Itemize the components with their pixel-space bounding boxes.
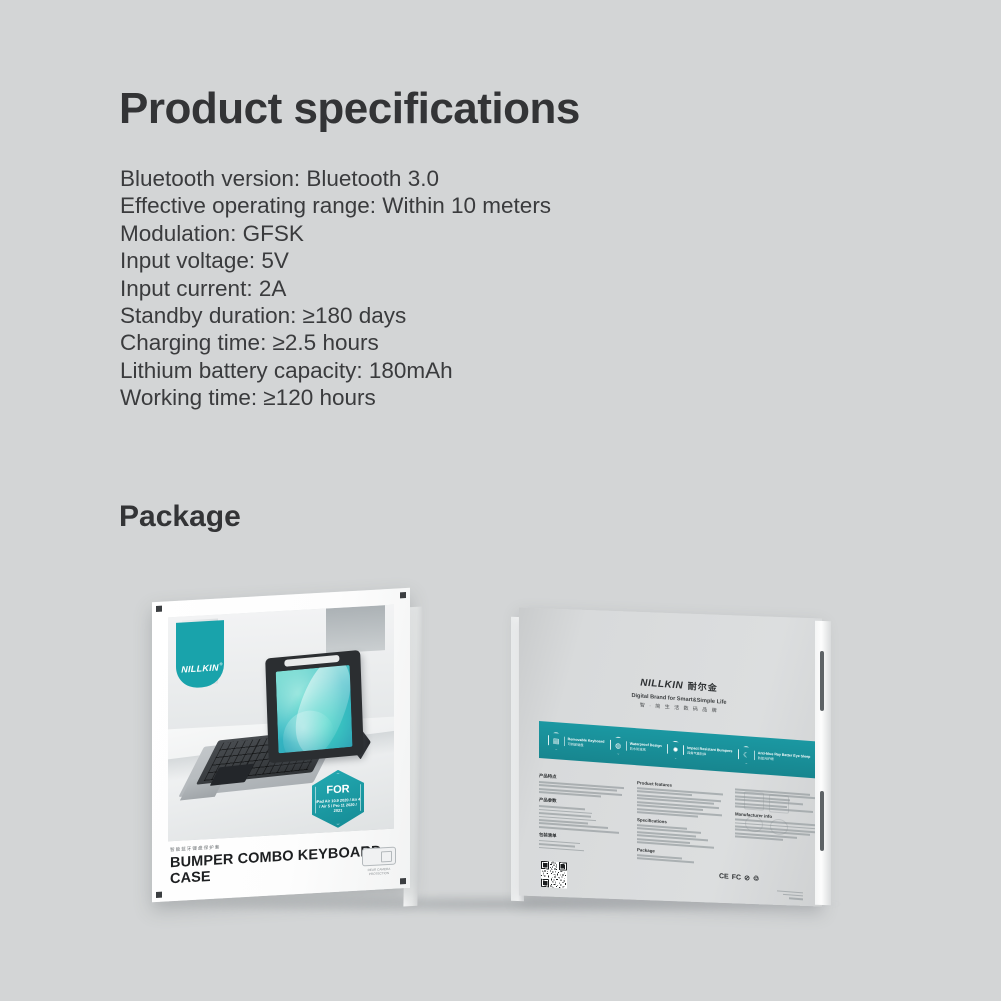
photo-panel bbox=[326, 605, 385, 653]
emboss-shape bbox=[769, 794, 789, 813]
qr-code bbox=[541, 861, 567, 889]
brand-wordmark-cn: 耐尔金 bbox=[688, 681, 718, 693]
back-text-columns: 产品特点 产品参数 包装清单 bbox=[539, 769, 824, 902]
page-title: Product specifications bbox=[119, 84, 580, 134]
back-box-face: NILLKIN 耐尔金 Digital Brand for Smart&Simp… bbox=[519, 607, 822, 906]
tablet-in-case bbox=[266, 650, 365, 764]
emboss-shape bbox=[744, 791, 764, 810]
rear-camera-icon bbox=[362, 847, 396, 867]
corner-mark bbox=[400, 592, 406, 598]
feature-item: ▤ Removable Keyboard 可拆卸键盘 bbox=[548, 731, 605, 753]
feature-band: ▤ Removable Keyboard 可拆卸键盘 ◍ Waterproof … bbox=[539, 721, 819, 779]
spec-line: Input current: 2A bbox=[120, 275, 740, 302]
feature-item: ☾ Anti-blue Ray Better Eye Sleep 防蓝光护眼 bbox=[738, 745, 811, 768]
spec-line: Working time: ≥120 hours bbox=[120, 384, 740, 411]
emboss-shape bbox=[770, 818, 788, 835]
spec-line: Input voltage: 5V bbox=[120, 247, 740, 274]
tablet-screen bbox=[277, 664, 354, 753]
feature-item: ◍ Waterproof Design 防水防泼溅 bbox=[610, 736, 662, 758]
moon-icon: ☾ bbox=[738, 745, 755, 764]
corner-mark bbox=[156, 892, 162, 898]
keyboard-icon: ▤ bbox=[548, 731, 565, 750]
water-drop-icon: ◍ bbox=[610, 736, 627, 755]
spec-line: Lithium battery capacity: 180mAh bbox=[120, 357, 740, 384]
corner-mark bbox=[400, 878, 406, 884]
specifications-list: Bluetooth version: Bluetooth 3.0 Effecti… bbox=[120, 165, 740, 412]
camera-protection-icon-block: REAR CAMERA PROTECTION bbox=[362, 847, 396, 873]
shock-icon: ✹ bbox=[667, 740, 684, 759]
back-brand-block: NILLKIN 耐尔金 Digital Brand for Smart&Simp… bbox=[614, 671, 744, 717]
section-title-package: Package bbox=[119, 500, 241, 534]
ce-mark: CE bbox=[719, 873, 729, 881]
weee-mark: ♲ bbox=[753, 875, 759, 883]
feature-item: ✹ Impact Resistant Bumpers 四角气囊防摔 bbox=[667, 740, 732, 763]
spec-line: Effective operating range: Within 10 met… bbox=[120, 192, 740, 219]
back-box-spine bbox=[815, 621, 831, 906]
back-fineprint bbox=[777, 890, 803, 901]
spec-line: Bluetooth version: Bluetooth 3.0 bbox=[120, 165, 740, 192]
for-models: iPad Air 10.9 2020 / Air 4 / Air 5 / Pro… bbox=[315, 796, 361, 814]
rohs-mark: ⊘ bbox=[744, 874, 750, 882]
spine-slot bbox=[820, 651, 824, 711]
fcc-mark: FC bbox=[732, 873, 741, 881]
package-photo: NILLKIN 耐尔金 Digital Brand for Smart&Simp… bbox=[0, 575, 1001, 955]
package-box-front: NILLKIN® FOR iPad Air 10.9 2020 / Air 4 … bbox=[140, 595, 490, 915]
spec-line: Standby duration: ≥180 days bbox=[120, 302, 740, 329]
spine-slot bbox=[820, 791, 824, 851]
front-box-face: NILLKIN® FOR iPad Air 10.9 2020 / Air 4 … bbox=[152, 588, 410, 902]
spec-line: Modulation: GFSK bbox=[120, 220, 740, 247]
emboss-shape bbox=[745, 815, 763, 832]
for-label: FOR bbox=[326, 784, 349, 796]
back-column: Product features Specifications bbox=[637, 776, 726, 895]
pencil-holder bbox=[285, 654, 340, 666]
bumper-case bbox=[266, 650, 365, 764]
brand-wordmark: NILLKIN bbox=[640, 677, 683, 691]
spec-line: Charging time: ≥2.5 hours bbox=[120, 329, 740, 356]
package-box-back: NILLKIN 耐尔金 Digital Brand for Smart&Simp… bbox=[505, 605, 835, 910]
corner-mark bbox=[156, 606, 162, 612]
nillkin-shield-logo: NILLKIN® bbox=[176, 620, 224, 689]
brand-wordmark: NILLKIN® bbox=[181, 662, 219, 674]
column-heading: Package bbox=[637, 847, 726, 859]
